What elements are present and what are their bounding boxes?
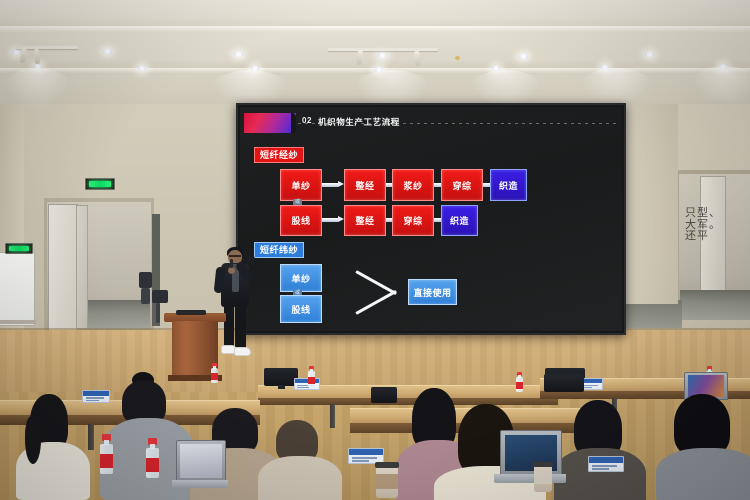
water-bottle <box>100 434 113 474</box>
downlight-icon <box>234 52 243 57</box>
water-bottle <box>211 363 218 383</box>
track-light-rail <box>328 48 438 51</box>
flow-arrow <box>322 181 344 188</box>
exit-sign-icon <box>85 178 115 190</box>
attendee <box>560 400 638 500</box>
whiteboard <box>0 252 35 326</box>
flow-node[interactable]: 浆纱 <box>392 169 434 201</box>
flow-node[interactable]: 穿综 <box>441 169 483 201</box>
microphone-icon <box>230 259 233 268</box>
flow-node[interactable]: 股线 <box>280 295 322 323</box>
flow-node[interactable]: 织造 <box>490 169 527 201</box>
presenter-leg <box>224 305 234 347</box>
track-light <box>34 49 40 64</box>
name-placard <box>82 390 110 403</box>
downlight-icon <box>138 66 146 71</box>
presenter-hand-mic <box>228 267 235 274</box>
name-placard <box>294 378 320 390</box>
podium-screen <box>176 310 206 315</box>
ceiling-soffit <box>0 33 750 71</box>
chevron-bracket-icon <box>356 270 402 312</box>
corridor-chair <box>141 288 150 304</box>
whiteboard-tray <box>0 320 36 324</box>
attendee-hair <box>674 394 730 456</box>
door-leaf[interactable] <box>48 204 78 332</box>
laptop-keyboard[interactable] <box>494 474 566 483</box>
downlight-icon <box>103 49 112 54</box>
slide-surface: 02 机织物生产工艺流程 短纤经纱 单纱 整经 浆纱 穿综 织造 或 <box>240 107 622 331</box>
glasses-icon <box>229 255 241 257</box>
laptop-keyboard[interactable] <box>172 480 228 488</box>
desk-monitor <box>544 374 584 392</box>
laptop[interactable] <box>176 440 226 482</box>
flow-node[interactable]: 单纱 <box>280 169 322 201</box>
water-bottle <box>516 372 523 392</box>
flow-node[interactable]: 股线 <box>280 205 322 236</box>
laptop[interactable] <box>500 430 562 476</box>
attendee <box>24 394 82 500</box>
attendee-shoulders <box>656 448 750 500</box>
stage-chair <box>156 303 160 323</box>
slide-banner-graphic <box>244 113 296 133</box>
monitor-stand <box>278 385 285 389</box>
attendee <box>660 394 750 500</box>
name-placard <box>588 456 624 472</box>
desk-monitor <box>264 368 298 386</box>
flow-node[interactable]: 整经 <box>344 205 386 236</box>
flow-arrow <box>322 216 344 223</box>
downlight-icon <box>378 53 387 58</box>
slide-section-number: 02 <box>302 116 312 125</box>
presenter-shoe <box>234 347 251 356</box>
corridor-floor <box>680 290 750 320</box>
right-wall-return <box>620 104 678 304</box>
presenter-leg <box>235 305 246 349</box>
coffee-cup <box>376 462 398 498</box>
flow-node[interactable]: 穿综 <box>392 205 434 236</box>
lecture-hall-photo: 只型、 大军。 还平 02 机织物生产工艺流程 短纤经纱 单纱 整经 浆纱 <box>0 0 750 500</box>
section-tag-weft: 短纤纬纱 <box>254 242 304 258</box>
door-leaf[interactable] <box>76 205 88 329</box>
flow-node[interactable]: 单纱 <box>280 264 322 292</box>
corridor-chair <box>139 272 152 288</box>
flow-node-result[interactable]: 直接使用 <box>408 279 457 305</box>
downlight-icon <box>645 52 654 57</box>
water-bottle <box>146 438 159 478</box>
corridor-floor <box>620 300 682 328</box>
downlight-icon <box>12 50 21 55</box>
flow-node[interactable]: 整经 <box>344 169 386 201</box>
table-leg <box>88 424 94 450</box>
desk-monitor <box>371 387 397 403</box>
water-bottle <box>308 366 315 387</box>
light-glow <box>578 68 654 108</box>
projection-screen[interactable]: 02 机织物生产工艺流程 短纤经纱 单纱 整经 浆纱 穿综 织造 或 <box>236 103 626 335</box>
coffee-cup <box>534 462 552 492</box>
attendee-shoulders <box>258 456 342 500</box>
attendee <box>262 420 336 500</box>
presenter-raised-hand <box>247 255 255 263</box>
flow-node[interactable]: 织造 <box>441 205 478 236</box>
downlight-icon <box>519 54 528 59</box>
exit-sign-icon <box>5 243 33 254</box>
ceiling-sensor-icon <box>455 56 460 60</box>
stage-chair <box>152 290 168 303</box>
section-tag-warp: 短纤经纱 <box>254 147 304 163</box>
wall-calligraphy: 只型、 大军。 还平 <box>685 208 721 243</box>
slide-title: 机织物生产工艺流程 <box>318 116 400 128</box>
attendee-hair-strand <box>25 416 41 464</box>
